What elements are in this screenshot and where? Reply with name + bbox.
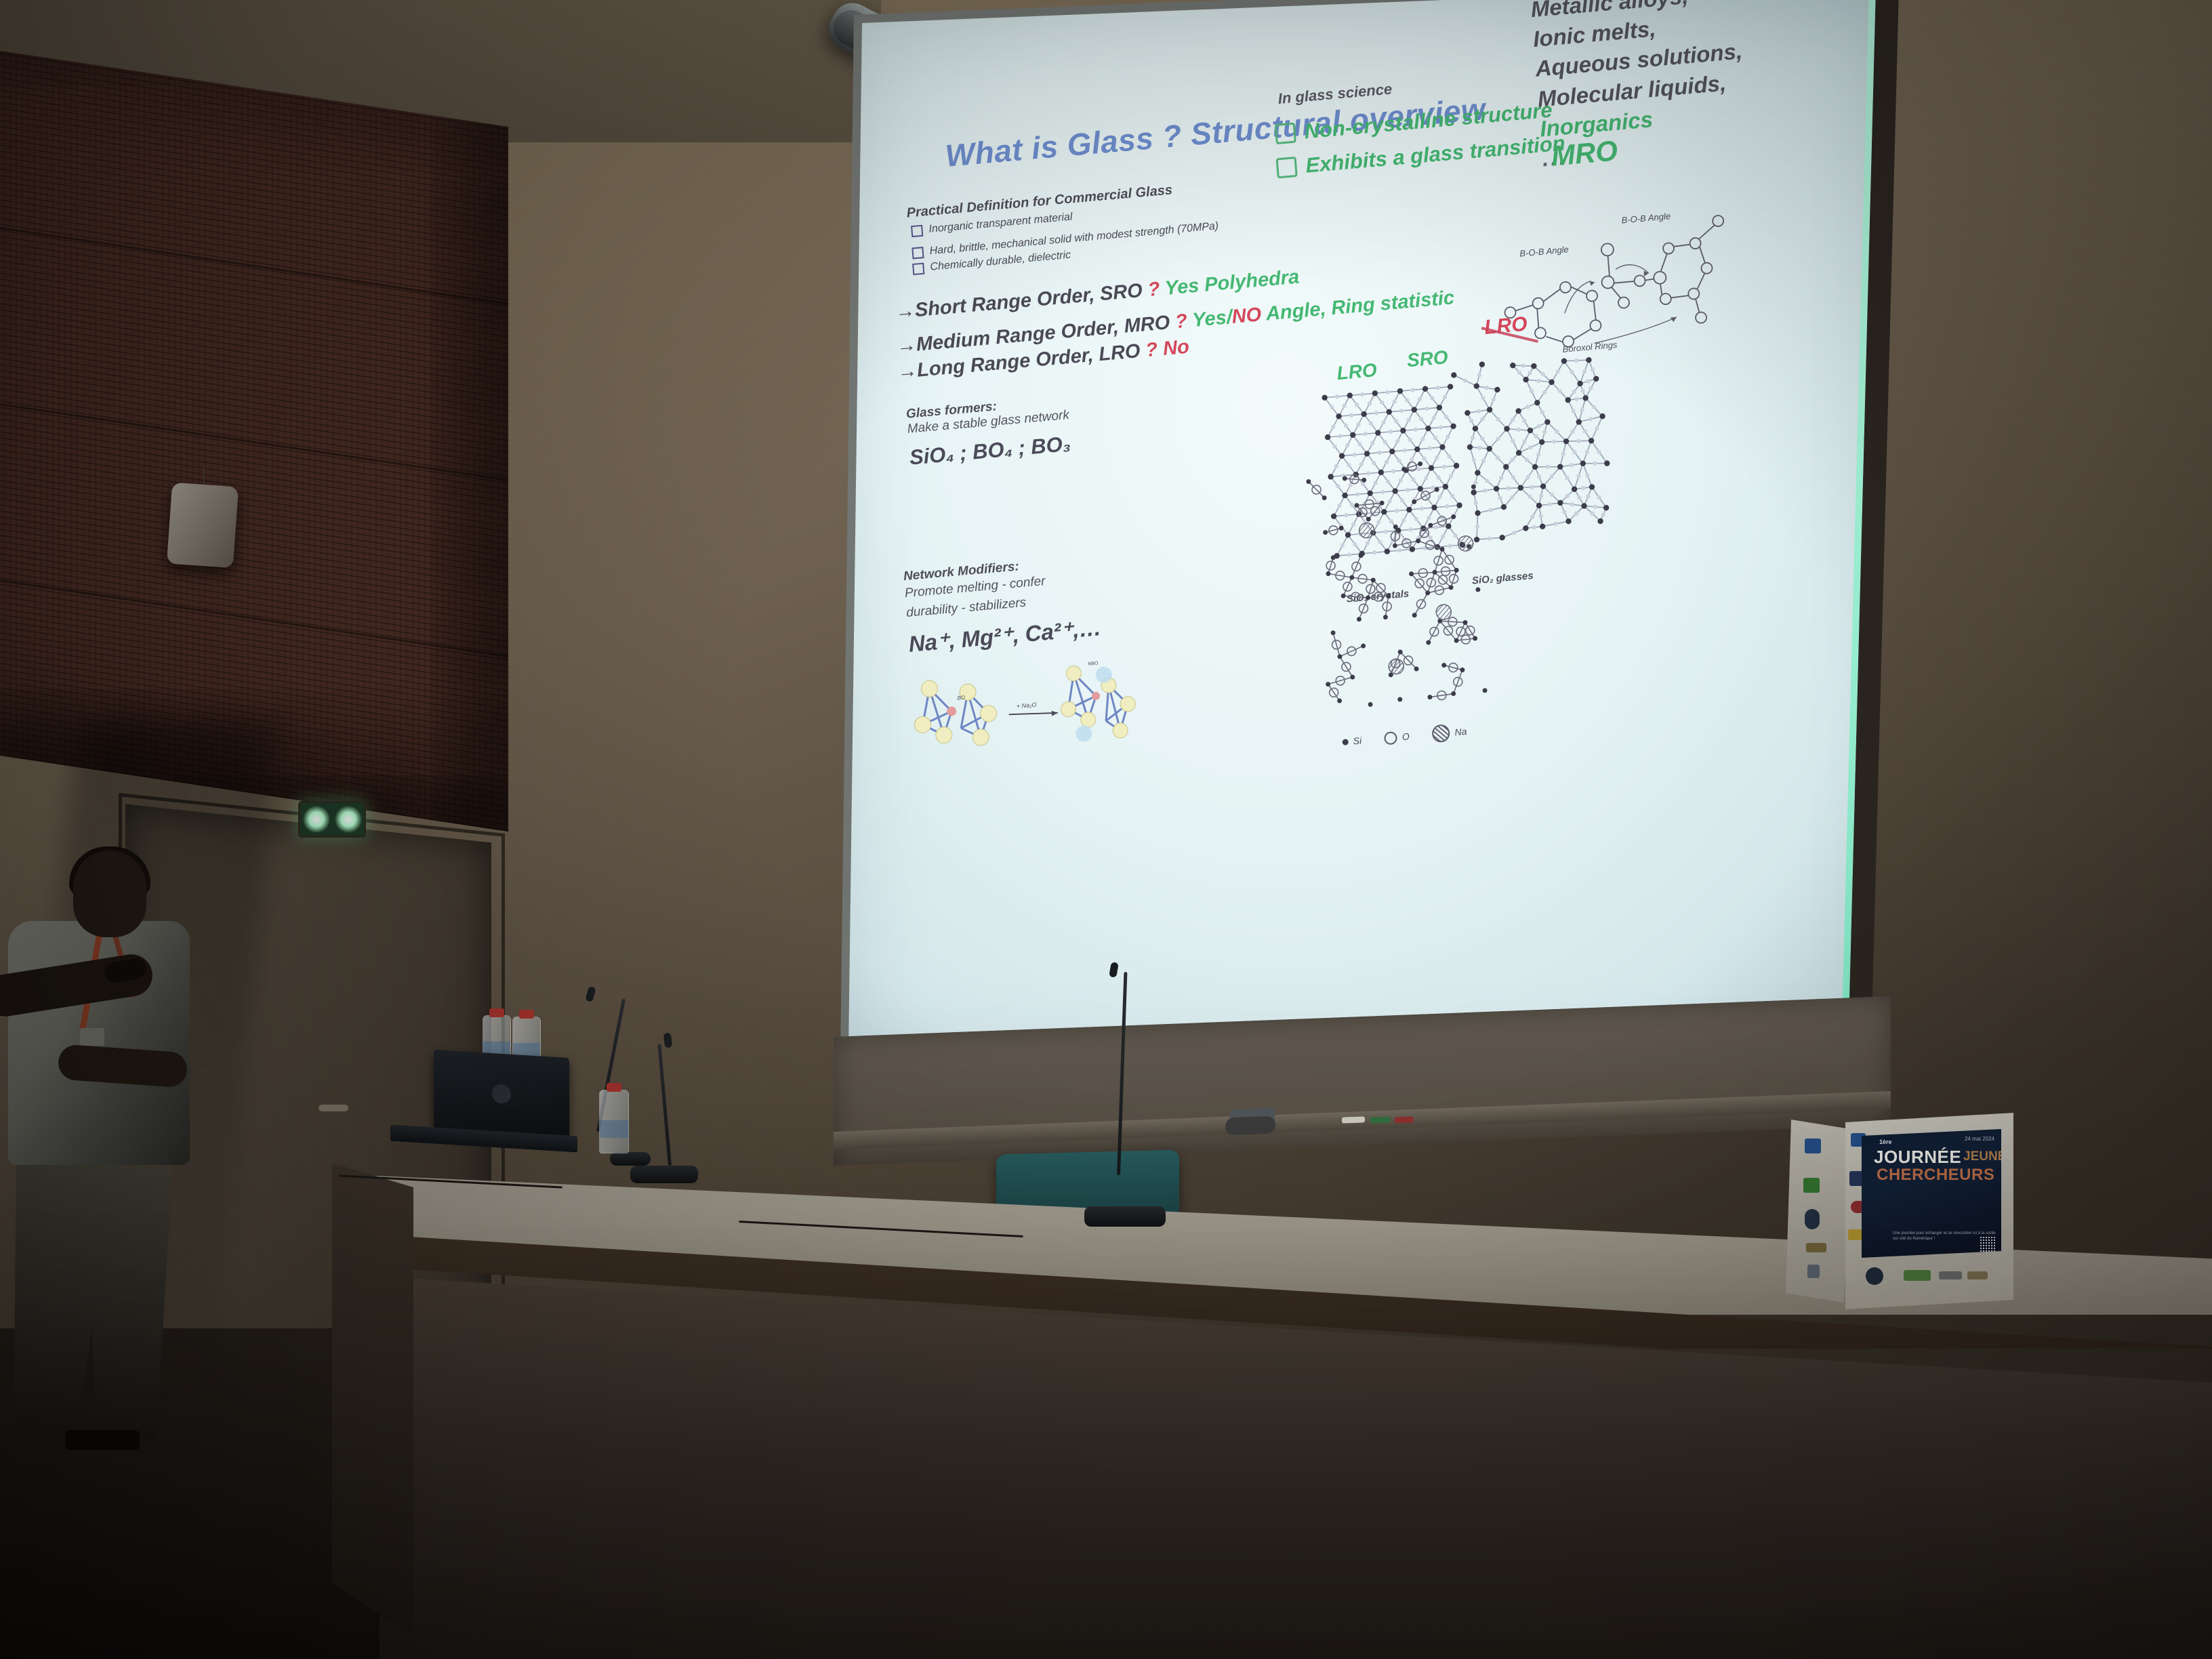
door-handle[interactable] bbox=[319, 1105, 348, 1111]
flyer-poster: 1ère 24 mai 2024 JOURNÉE JEUNES CHERCHEU… bbox=[1862, 1129, 2001, 1258]
slide-content: What is Glass ? Structural overview In g… bbox=[840, 0, 1935, 1057]
presenter bbox=[0, 851, 217, 1447]
sponsor-logo bbox=[1807, 1265, 1820, 1278]
flyer-line-2: CHERCHEURS bbox=[1877, 1166, 1994, 1185]
flyer-artwork bbox=[1904, 1189, 1966, 1228]
checkbox-icon bbox=[1276, 157, 1298, 179]
flyer-date: 24 mai 2024 bbox=[1965, 1136, 1994, 1142]
mro-title: MRO bbox=[1550, 134, 1618, 172]
checkbox-icon bbox=[911, 224, 923, 237]
sponsor-logo bbox=[1806, 1243, 1826, 1252]
tent-left-face bbox=[1786, 1120, 1851, 1303]
sponsor-logo bbox=[1866, 1267, 1883, 1285]
microphone-base[interactable] bbox=[610, 1152, 651, 1166]
sponsor-logo bbox=[1803, 1178, 1820, 1193]
o-circle-icon bbox=[1384, 731, 1397, 745]
lecture-hall-photo: What is Glass ? Structural overview In g… bbox=[0, 0, 2212, 1659]
flyer-sponsor-row bbox=[1866, 1265, 1999, 1293]
wireless-mouse[interactable] bbox=[1225, 1116, 1275, 1136]
bo-label: BO bbox=[957, 695, 965, 701]
emergency-exit-sign-icon bbox=[298, 801, 366, 838]
presenter-legs bbox=[11, 1155, 180, 1440]
legend-item-o: O bbox=[1384, 730, 1410, 745]
sponsor-logo bbox=[1967, 1271, 1988, 1279]
legend-item-na: Na bbox=[1432, 722, 1468, 743]
si-dot-icon bbox=[1342, 739, 1349, 745]
sponsor-logo bbox=[1904, 1270, 1931, 1281]
marker-green[interactable] bbox=[1370, 1116, 1391, 1123]
reagent-label: + Na₂O bbox=[1017, 701, 1037, 710]
sponsor-logo bbox=[1939, 1271, 1962, 1279]
wall-speaker bbox=[167, 483, 239, 569]
acoustic-panel bbox=[0, 47, 508, 832]
dell-logo-icon bbox=[492, 1084, 511, 1104]
marker-white[interactable] bbox=[1342, 1116, 1365, 1123]
na-hatched-icon bbox=[1432, 724, 1451, 743]
sodium-silicate-network-figure bbox=[1300, 453, 1524, 755]
table-tent-flyer[interactable]: 1ère 24 mai 2024 JOURNÉE JEUNES CHERCHEU… bbox=[1786, 1103, 2016, 1307]
projection-screen: What is Glass ? Structural overview In g… bbox=[840, 0, 1898, 1071]
water-bottle[interactable] bbox=[599, 1090, 629, 1153]
microphone-base[interactable] bbox=[630, 1166, 698, 1183]
laptop[interactable] bbox=[434, 1050, 569, 1138]
marker-red[interactable] bbox=[1395, 1116, 1414, 1123]
checkbox-icon bbox=[912, 262, 924, 274]
legend-item-si: Si bbox=[1342, 735, 1362, 747]
glass-formers-block: Glass formers: Make a stable glass netwo… bbox=[905, 393, 1072, 470]
nbo-label: NBO bbox=[1088, 661, 1099, 666]
desk-side-panel bbox=[332, 1163, 413, 1637]
tetrahedra-reaction-figure: BO + Na₂O NBO bbox=[904, 653, 1141, 775]
checkbox-icon bbox=[912, 247, 924, 259]
microphone-base[interactable] bbox=[1084, 1206, 1166, 1227]
presenter-shoe bbox=[65, 1430, 140, 1450]
flyer-line-1: JOURNÉE bbox=[1874, 1147, 1961, 1168]
network-modifiers-block: Network Modifiers: Promote melting - con… bbox=[903, 552, 1102, 657]
label-lro-green: LRO bbox=[1336, 359, 1377, 384]
label-sro-green: SRO bbox=[1406, 346, 1449, 371]
checkbox-icon bbox=[1275, 123, 1296, 145]
qr-code-icon[interactable] bbox=[1980, 1237, 1995, 1252]
sponsor-logo bbox=[1805, 1139, 1821, 1153]
name-badge bbox=[80, 1028, 104, 1046]
flyer-prefix: 1ère bbox=[1879, 1139, 1892, 1145]
presenter-head bbox=[73, 851, 146, 937]
sponsor-logo bbox=[1805, 1209, 1820, 1229]
